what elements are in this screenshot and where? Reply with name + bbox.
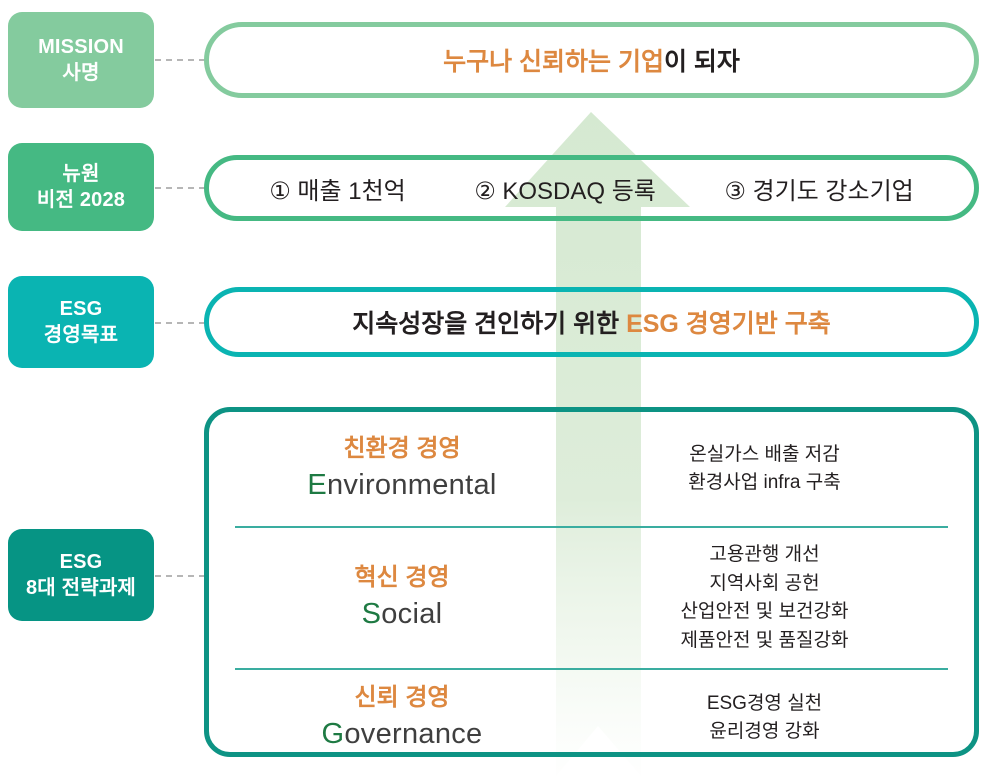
pillar-title-environmental: 친환경 경영 Environmental — [227, 433, 577, 505]
vision-item: ② KOSDAQ 등록 — [474, 171, 656, 206]
task-item: 산업안전 및 보건강화 — [583, 598, 946, 627]
pillar-korean-label: 혁신 경영 — [227, 562, 577, 594]
esg-goal-highlight: ESG 경영기반 구축 — [626, 310, 831, 338]
pillar-english-rest: nvironmental — [327, 469, 497, 501]
esg-strategy-diagram: MISSION 사명 누구나 신뢰하는 기업이 되자 뉴원 비전 2028 ① … — [0, 0, 987, 776]
vision-items: ① 매출 1천억 ② KOSDAQ 등록 ③ 경기도 강소기업 — [209, 171, 974, 206]
pillar-english-rest: ocial — [381, 598, 442, 630]
pillar-english-label: Social — [227, 595, 577, 634]
chip-esg-strategy-line2: 8대 전략과제 — [26, 575, 136, 601]
pillar-initial: E — [307, 469, 327, 501]
panel-esg-goal: 지속성장을 견인하기 위한 ESG 경영기반 구축 — [204, 287, 979, 357]
pillar-row-environmental: 친환경 경영 Environmental 온실가스 배출 저감 환경사업 inf… — [209, 412, 974, 526]
pillar-korean-label: 친환경 경영 — [227, 433, 577, 465]
pillar-title-social: 혁신 경영 Social — [227, 562, 577, 634]
task-item: ESG경영 실천 — [583, 690, 946, 719]
chip-esg-strategy-line1: ESG — [60, 549, 103, 575]
chip-mission: MISSION 사명 — [8, 12, 154, 108]
task-item: 환경사업 infra 구축 — [583, 469, 946, 498]
pillar-english-label: Governance — [227, 715, 577, 754]
task-item: 제품안전 및 품질강화 — [583, 627, 946, 656]
esg-goal-statement: 지속성장을 견인하기 위한 ESG 경영기반 구축 — [352, 304, 831, 340]
mission-highlight: 누구나 신뢰하는 기업 — [443, 48, 664, 76]
pillar-tasks-environmental: 온실가스 배출 저감 환경사업 infra 구축 — [577, 441, 946, 498]
pillar-title-governance: 신뢰 경영 Governance — [227, 682, 577, 754]
chip-mission-line2: 사명 — [62, 60, 99, 86]
pillar-english-rest: overnance — [344, 718, 482, 750]
mission-statement: 누구나 신뢰하는 기업이 되자 — [443, 42, 740, 78]
pillar-korean-label: 신뢰 경영 — [227, 682, 577, 714]
esg-goal-plain: 지속성장을 견인하기 위한 — [352, 310, 626, 338]
connector-esg-strategy — [155, 575, 205, 577]
task-item: 윤리경영 강화 — [583, 718, 946, 747]
panel-esg-strategy: 친환경 경영 Environmental 온실가스 배출 저감 환경사업 inf… — [204, 407, 979, 757]
mission-rest: 이 되자 — [664, 48, 740, 76]
chip-vision-line1: 뉴원 — [62, 161, 99, 187]
pillar-row-governance: 신뢰 경영 Governance ESG경영 실천 윤리경영 강화 — [209, 670, 974, 766]
task-item: 지역사회 공헌 — [583, 570, 946, 599]
pillar-initial: G — [322, 718, 345, 750]
pillar-tasks-social: 고용관행 개선 지역사회 공헌 산업안전 및 보건강화 제품안전 및 품질강화 — [577, 541, 946, 655]
chip-vision: 뉴원 비전 2028 — [8, 143, 154, 231]
vision-item: ③ 경기도 강소기업 — [724, 171, 913, 206]
pillar-row-social: 혁신 경영 Social 고용관행 개선 지역사회 공헌 산업안전 및 보건강화… — [209, 528, 974, 668]
chip-mission-line1: MISSION — [38, 34, 124, 60]
chip-esg-strategy: ESG 8대 전략과제 — [8, 529, 154, 621]
panel-mission: 누구나 신뢰하는 기업이 되자 — [204, 22, 979, 98]
panel-vision: ① 매출 1천억 ② KOSDAQ 등록 ③ 경기도 강소기업 — [204, 155, 979, 221]
chip-esg-goal-line2: 경영목표 — [44, 322, 118, 348]
task-item: 온실가스 배출 저감 — [583, 441, 946, 470]
vision-item: ① 매출 1천억 — [269, 171, 406, 206]
chip-esg-goal: ESG 경영목표 — [8, 276, 154, 368]
task-item: 고용관행 개선 — [583, 541, 946, 570]
connector-mission — [155, 59, 205, 61]
pillar-initial: S — [362, 598, 382, 630]
connector-vision — [155, 187, 205, 189]
pillar-english-label: Environmental — [227, 466, 577, 505]
connector-esg-goal — [155, 322, 205, 324]
pillar-tasks-governance: ESG경영 실천 윤리경영 강화 — [577, 690, 946, 747]
chip-esg-goal-line1: ESG — [60, 296, 103, 322]
chip-vision-line2: 비전 2028 — [37, 187, 125, 213]
